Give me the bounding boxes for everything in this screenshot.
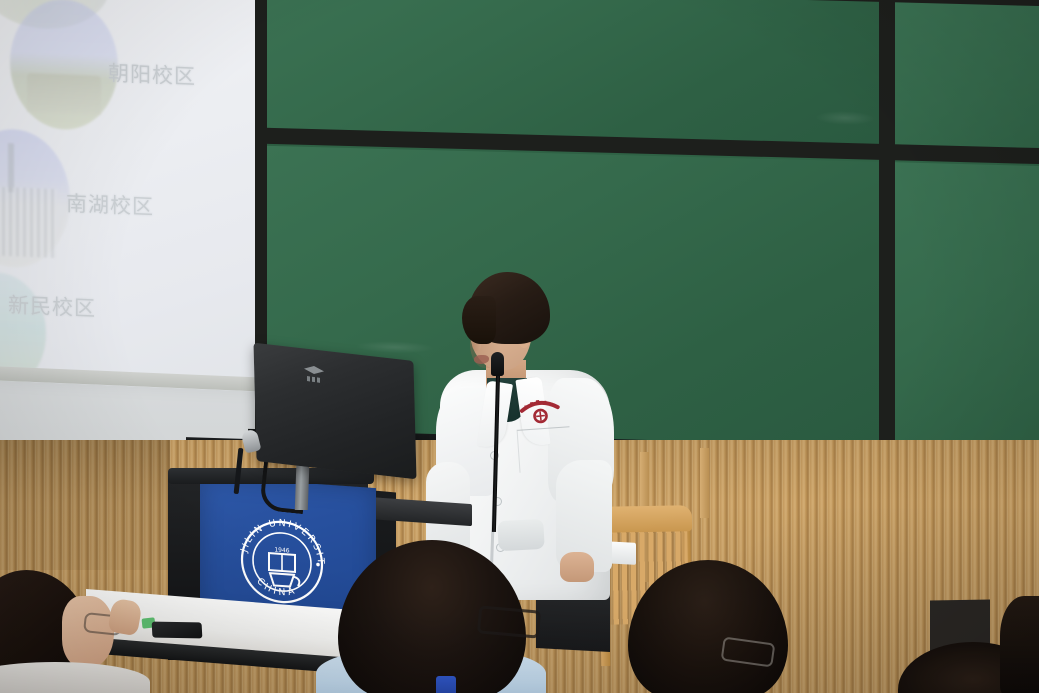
- hospital-logo-badge: [518, 394, 563, 428]
- chalkboard-frame-vertical: [879, 0, 895, 464]
- audience-member-edge-right-hair: [1000, 596, 1039, 693]
- monitor-brand-logo: [300, 363, 328, 389]
- jilin-university-emblem: JILIN UNIVERSITY CHINA 1946: [232, 509, 332, 616]
- wood-wall-divider: [700, 448, 709, 518]
- smartphone-on-desk[interactable]: [152, 622, 203, 639]
- chalkboard-panel-top-right: [895, 0, 1039, 155]
- slide-campus-photo-3: [0, 127, 70, 270]
- presenter-monitor[interactable]: [253, 343, 416, 480]
- eyeglasses-icon: [477, 605, 541, 638]
- presenter-sleeve-cuff: [497, 519, 545, 551]
- wooden-chair-top-rail: [600, 505, 692, 533]
- chalkboard-panel-bottom-right: [895, 162, 1039, 461]
- presenter-hair-fringe: [462, 296, 496, 344]
- projection-screen: 朝阳校区 南湖校区 新民校区: [0, 0, 258, 392]
- lecture-hall-photo: 朝阳校区 南湖校区 新民校区: [0, 0, 1039, 693]
- projection-screen-content: 朝阳校区 南湖校区 新民校区: [0, 0, 258, 392]
- slide-label-nanhu-campus: 南湖校区: [66, 188, 154, 222]
- water-bottle[interactable]: [436, 676, 456, 693]
- gooseneck-microphone[interactable]: [491, 352, 504, 376]
- presenter-hand-right: [560, 552, 594, 582]
- chalkboard-panel-top-left: [265, 0, 879, 144]
- wood-wall-shadow-left: [0, 440, 170, 570]
- slide-campus-photo-2: [10, 0, 118, 132]
- svg-text:JILIN UNIVERSITY: JILIN UNIVERSITY: [232, 509, 326, 567]
- slide-label-chaoyang-campus: 朝阳校区: [108, 57, 196, 91]
- slide-label-xinmin-campus: 新民校区: [8, 289, 96, 323]
